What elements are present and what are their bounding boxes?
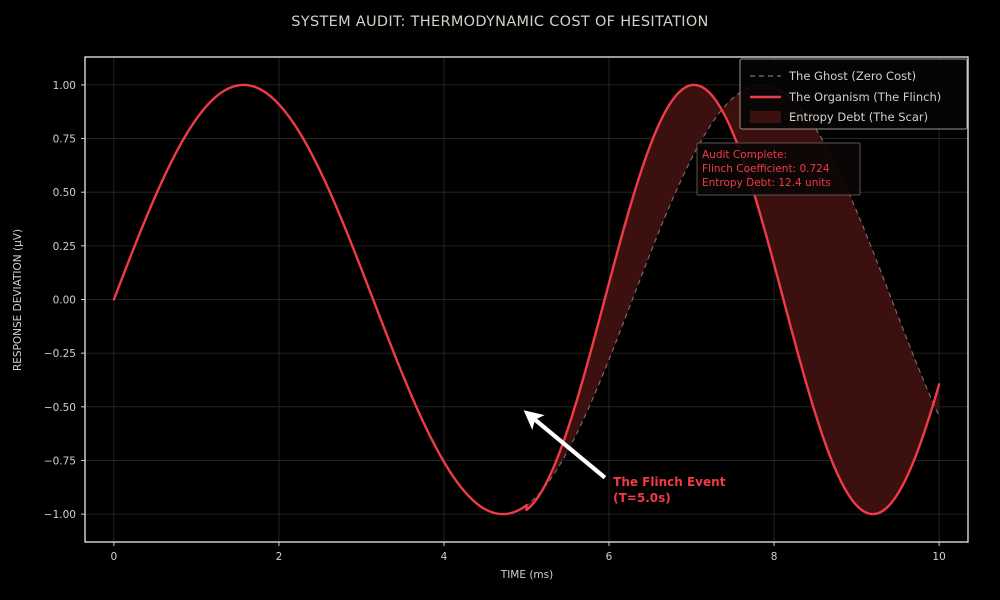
y-tick-label: −1.00 (44, 509, 76, 521)
x-tick-label: 8 (771, 551, 778, 563)
chart-figure: SYSTEM AUDIT: THERMODYNAMIC COST OF HESI… (0, 0, 1000, 600)
chart-legend[interactable]: The Ghost (Zero Cost) The Organism (The … (740, 59, 967, 129)
y-tick-label: −0.75 (44, 455, 76, 467)
x-tick-label: 2 (276, 551, 283, 563)
stats-line-2: Flinch Coefficient: 0.724 (702, 163, 830, 175)
y-tick-label: −0.25 (44, 348, 76, 360)
legend-label-ghost: The Ghost (Zero Cost) (788, 69, 916, 83)
y-axis-label: RESPONSE DEVIATION (µV) (12, 229, 24, 371)
x-tick-label: 10 (932, 551, 945, 563)
y-tick-label: 0.00 (53, 295, 76, 307)
legend-item-entropy-debt[interactable]: Entropy Debt (The Scar) (750, 110, 928, 124)
x-tick-label: 0 (111, 551, 118, 563)
x-axis-label: TIME (ms) (500, 569, 553, 581)
x-tick-label: 6 (606, 551, 613, 563)
audit-stats-box: Audit Complete: Flinch Coefficient: 0.72… (697, 143, 860, 195)
stats-line-3: Entropy Debt: 12.4 units (702, 177, 831, 189)
y-tick-label: 0.75 (53, 134, 76, 146)
legend-label-entropy-debt: Entropy Debt (The Scar) (789, 110, 928, 124)
stats-line-1: Audit Complete: (702, 149, 787, 161)
filled-patch-icon (750, 111, 781, 123)
legend-label-organism: The Organism (The Flinch) (788, 90, 941, 104)
flinch-annotation-line-1: The Flinch Event (613, 475, 726, 489)
audit-chart-canvas: SYSTEM AUDIT: THERMODYNAMIC COST OF HESI… (0, 0, 1000, 600)
chart-title: SYSTEM AUDIT: THERMODYNAMIC COST OF HESI… (291, 14, 708, 30)
x-tick-label: 4 (441, 551, 448, 563)
flinch-annotation-line-2: (T=5.0s) (613, 491, 671, 505)
y-tick-label: 0.50 (53, 187, 76, 199)
y-tick-label: −0.50 (44, 402, 76, 414)
y-tick-label: 0.25 (53, 241, 76, 253)
y-tick-label: 1.00 (53, 80, 76, 92)
